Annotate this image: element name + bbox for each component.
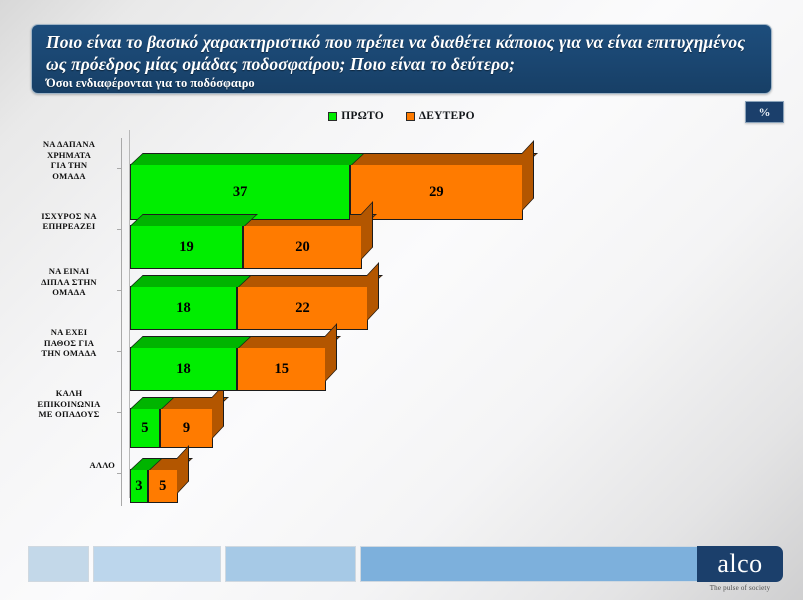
logo-text: alco	[717, 550, 762, 578]
bar-segment[interactable]: 5	[130, 408, 160, 448]
bar-value-label: 15	[274, 361, 289, 378]
bar-side-face	[367, 262, 379, 321]
legend-swatch-icon	[328, 112, 337, 121]
footer-bar-segment	[225, 546, 356, 582]
bar-chart: ΝΑ ΔΑΠΑΝΑΧΡΗΜΑΤΑΓΙΑ ΤΗΝΟΜΑΔΑ3729ΙΣΧΥΡΟΣ …	[0, 130, 803, 515]
chart-legend: ΠΡΩΤΟ ΔΕΥΤΕΡΟ	[0, 110, 803, 122]
bar-side-face	[361, 201, 373, 260]
bar-value-label: 19	[179, 239, 194, 256]
footer-bar-segment	[93, 546, 221, 582]
chart-rows: ΝΑ ΔΑΠΑΝΑΧΡΗΜΑΤΑΓΙΑ ΤΗΝΟΜΑΔΑ3729ΙΣΧΥΡΟΣ …	[0, 130, 803, 515]
footer: alco The pulse of society	[0, 538, 803, 600]
chart-row: ΚΑΛΗΕΠΙΚΟΙΝΩΝΙΑΜΕ ΟΠΑΔΟΥΣ59	[0, 396, 803, 436]
category-label-line: ΙΣΧΥΡΟΣ ΝΑ	[23, 211, 115, 222]
category-label-line: ΤΗΝ ΟΜΑΔΑ	[23, 348, 115, 359]
bar-top-face	[237, 275, 383, 287]
legend-item-proto: ΠΡΩΤΟ	[328, 110, 384, 122]
alco-logo: alco	[697, 546, 783, 582]
category-label: ΚΑΛΗΕΠΙΚΟΙΝΩΝΙΑΜΕ ΟΠΑΔΟΥΣ	[23, 388, 115, 420]
category-label-line: ΔΙΠΛΑ ΣΤΗΝ	[23, 277, 115, 288]
footer-bar-segment	[28, 546, 89, 582]
bar-value-label: 5	[159, 478, 166, 495]
bar-value-label: 18	[176, 300, 191, 317]
footer-bar-segment	[360, 546, 707, 582]
bar-segment[interactable]: 18	[130, 286, 237, 330]
bar-segment[interactable]: 19	[130, 225, 243, 269]
bar-segment[interactable]: 9	[160, 408, 214, 448]
legend-item-deftero: ΔΕΥΤΕΡΟ	[406, 110, 475, 122]
header-banner: Ποιο είναι το βασικό χαρακτηριστικό που …	[31, 24, 772, 94]
slide: Ποιο είναι το βασικό χαρακτηριστικό που …	[0, 0, 803, 600]
bar-value-label: 37	[233, 184, 248, 201]
category-label-line: ΚΑΛΗ	[23, 388, 115, 399]
bar-segment[interactable]: 18	[130, 347, 237, 391]
footer-decoration-bars	[28, 546, 707, 582]
category-label: ΝΑ ΔΑΠΑΝΑΧΡΗΜΑΤΑΓΙΑ ΤΗΝΟΜΑΔΑ	[23, 139, 115, 181]
bar-value-label: 29	[429, 184, 444, 201]
category-label-line: ΠΑΘΟΣ ΓΙΑ	[23, 338, 115, 349]
bar-side-face	[177, 445, 189, 494]
bar-segment[interactable]: 22	[237, 286, 368, 330]
legend-label: ΔΕΥΤΕΡΟ	[419, 110, 475, 122]
chart-row: ΑΛΛΟ35	[0, 457, 803, 491]
category-label-line: ΟΜΑΔΑ	[23, 171, 115, 182]
category-label-line: ΕΠΗΡΕΑΖΕΙ	[23, 221, 115, 232]
category-label-line: ΑΛΛΟ	[23, 460, 115, 471]
bar-value-label: 20	[295, 239, 310, 256]
bar-value-label: 5	[141, 420, 148, 437]
category-label-line: ΝΑ ΕΧΕΙ	[23, 327, 115, 338]
bar-segment[interactable]: 37	[130, 164, 350, 220]
category-label: ΙΣΧΥΡΟΣ ΝΑΕΠΗΡΕΑΖΕΙ	[23, 211, 115, 232]
bar-value-label: 3	[135, 478, 142, 495]
bar-side-face	[325, 323, 337, 382]
bar-value-label: 18	[176, 361, 191, 378]
page-title: Ποιο είναι το βασικό χαρακτηριστικό που …	[46, 31, 759, 75]
category-label-line: ΜΕ ΟΠΑΔΟΥΣ	[23, 409, 115, 420]
page-subtitle: Όσοι ενδιαφέρονται για το ποδόσφαιρο	[46, 76, 759, 91]
category-label: ΑΛΛΟ	[23, 460, 115, 471]
bar-segment[interactable]: 3	[130, 469, 148, 503]
bar-segment[interactable]: 20	[243, 225, 362, 269]
category-label-line: ΝΑ ΔΑΠΑΝΑ	[23, 139, 115, 150]
chart-row: ΝΑ ΔΑΠΑΝΑΧΡΗΜΑΤΑΓΙΑ ΤΗΝΟΜΑΔΑ3729	[0, 152, 803, 208]
bar-side-face	[212, 384, 224, 439]
logo-tagline: The pulse of society	[697, 584, 783, 592]
chart-row: ΝΑ ΕΙΝΑΙΔΙΠΛΑ ΣΤΗΝΟΜΑΔΑ1822	[0, 274, 803, 318]
bar-value-label: 9	[183, 420, 190, 437]
category-label-line: ΧΡΗΜΑΤΑ	[23, 150, 115, 161]
bar-segment[interactable]: 5	[148, 469, 178, 503]
category-label-line: ΓΙΑ ΤΗΝ	[23, 160, 115, 171]
bar-top-face	[130, 336, 252, 348]
category-label-line: ΝΑ ΕΙΝΑΙ	[23, 266, 115, 277]
bar-side-face	[522, 140, 534, 211]
bar-top-face	[130, 275, 252, 287]
legend-label: ΠΡΩΤΟ	[341, 110, 384, 122]
chart-row: ΝΑ ΕΧΕΙΠΑΘΟΣ ΓΙΑΤΗΝ ΟΜΑΔΑ1815	[0, 335, 803, 379]
bar-segment[interactable]: 15	[237, 347, 326, 391]
bar-top-face	[130, 153, 365, 165]
category-label: ΝΑ ΕΙΝΑΙΔΙΠΛΑ ΣΤΗΝΟΜΑΔΑ	[23, 266, 115, 298]
bar-top-face	[350, 153, 537, 165]
category-label: ΝΑ ΕΧΕΙΠΑΘΟΣ ΓΙΑΤΗΝ ΟΜΑΔΑ	[23, 327, 115, 359]
category-label-line: ΟΜΑΔΑ	[23, 287, 115, 298]
bar-value-label: 22	[295, 300, 310, 317]
category-label-line: ΕΠΙΚΟΙΝΩΝΙΑ	[23, 399, 115, 410]
bar-segment[interactable]: 29	[350, 164, 523, 220]
bar-top-face	[130, 214, 258, 226]
legend-swatch-icon	[406, 112, 415, 121]
